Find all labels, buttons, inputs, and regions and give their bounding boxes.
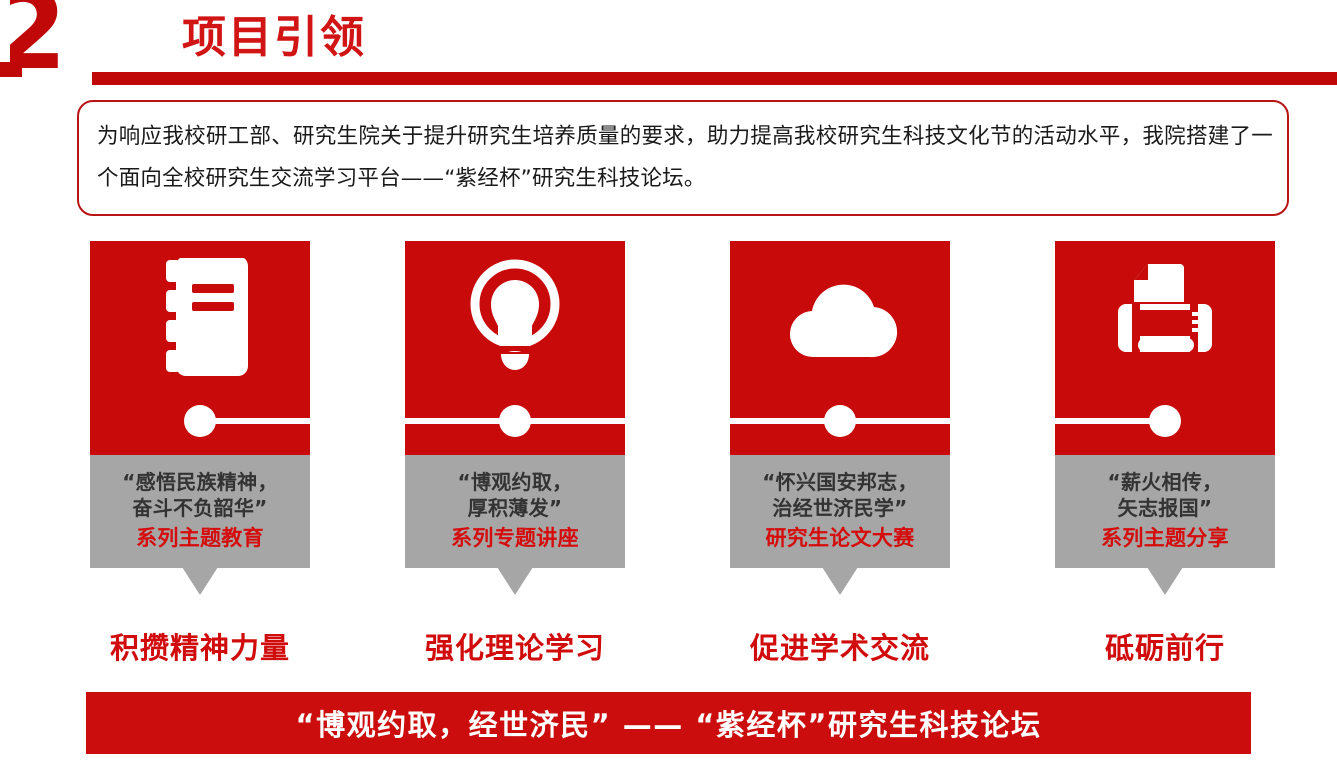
card-connector [1055,405,1275,437]
connector-dot [499,405,531,437]
card-icon-panel [90,241,310,455]
card-item[interactable]: “博观约取， 厚积薄发” 系列专题讲座 [405,241,625,568]
connector-line [200,418,352,424]
outcome-label: 促进学术交流 [710,625,970,667]
card-icon-panel [1055,241,1275,455]
page-title: 项目引领 [182,14,366,62]
card-quote: “感悟民族精神， 奋斗不负韶华” [94,469,306,521]
card-connector [405,405,625,437]
card-caption-panel: “感悟民族精神， 奋斗不负韶华” 系列主题教育 [90,455,310,568]
card-item[interactable]: “感悟民族精神， 奋斗不负韶华” 系列主题教育 [90,241,310,568]
card-connector [90,405,310,437]
card-quote: “博观约取， 厚积薄发” [409,469,621,521]
card-quote: “怀兴国安邦志， 治经世济民学” [734,469,946,521]
connector-dot [184,405,216,437]
outcome-label: 强化理论学习 [385,625,645,667]
card-arrow-down [1147,567,1183,595]
card-item[interactable]: “薪火相传， 矢志报国” 系列主题分享 [1055,241,1275,568]
intro-paragraph: 为响应我校研工部、研究生院关于提升研究生培养质量的要求，助力提高我校研究生科技文… [97,116,1273,200]
card-caption-panel: “博观约取， 厚积薄发” 系列专题讲座 [405,455,625,568]
section-number: 2 [10,0,63,84]
notebook-icon [140,255,260,385]
lightbulb-icon [455,255,575,385]
intro-box: 为响应我校研工部、研究生院关于提升研究生培养质量的要求，助力提高我校研究生科技文… [77,100,1289,216]
card-subtitle: 系列主题教育 [94,525,306,552]
outcome-label: 积攒精神力量 [70,625,330,667]
card-icon-panel [730,241,950,455]
outcome-label: 砥砺前行 [1035,625,1295,667]
card-item[interactable]: “怀兴国安邦志， 治经世济民学” 研究生论文大赛 [730,241,950,568]
card-caption-panel: “薪火相传， 矢志报国” 系列主题分享 [1055,455,1275,568]
connector-line [1013,418,1165,424]
header-underline-bar [92,72,1337,85]
connector-dot [824,405,856,437]
footer-banner-text: “博观约取，经世济民” —— “紫经杯”研究生科技论坛 [296,702,1042,744]
card-icon-panel [405,241,625,455]
printer-icon [1105,255,1225,385]
card-connector [730,405,950,437]
card-subtitle: 系列主题分享 [1059,525,1271,552]
card-caption-panel: “怀兴国安邦志， 治经世济民学” 研究生论文大赛 [730,455,950,568]
section-number-wrapper: 2 [10,0,100,84]
card-arrow-down [497,567,533,595]
cloud-icon [780,255,900,385]
card-row: “感悟民族精神， 奋斗不负韶华” 系列主题教育 “博观约取， 厚 [0,241,1337,581]
page-header: 2 项目引领 [0,0,1337,92]
card-subtitle: 系列专题讲座 [409,525,621,552]
card-arrow-down [822,567,858,595]
footer-banner: “博观约取，经世济民” —— “紫经杯”研究生科技论坛 [86,692,1251,754]
outcome-row: 积攒精神力量 强化理论学习 促进学术交流 砥砺前行 [0,625,1337,675]
connector-dot [1149,405,1181,437]
card-subtitle: 研究生论文大赛 [734,525,946,552]
card-arrow-down [182,567,218,595]
card-quote: “薪火相传， 矢志报国” [1059,469,1271,521]
